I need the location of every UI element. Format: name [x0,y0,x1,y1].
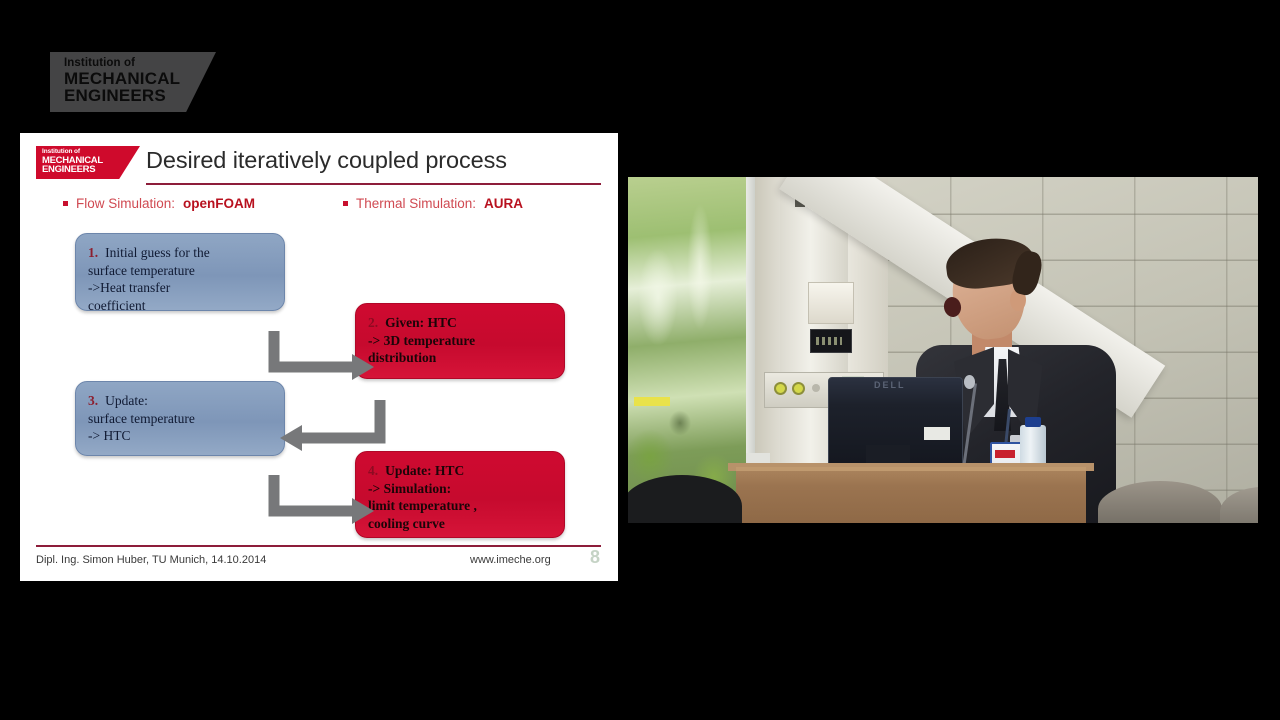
flow-box-4-line4: cooling curve [368,515,552,533]
watermark-logo-line1: Institution of [64,58,180,70]
slide-title-rule [146,183,601,185]
flow-box-1-line3: ->Heat transfer [88,279,272,297]
bullet-thermal-value: AURA [484,196,523,211]
slide-page-number: 8 [590,547,600,568]
flow-box-1-line4: coefficient [88,297,272,315]
watermark-logo-line3: ENGINEERS [64,87,180,104]
slide-logo-text: Institution of MECHANICAL ENGINEERS [42,149,103,175]
flow-box-3-number: 3. [88,392,98,410]
bullet-flow-simulation: Flow Simulation: openFOAM [63,196,255,211]
video-bottom-letterbox [628,523,1258,537]
slide-panel[interactable]: Institution of MECHANICAL ENGINEERS Desi… [20,133,618,581]
monitor-brand-label: DELL [874,380,906,390]
wall-mounted-box [808,282,854,324]
arrow-box1-to-box2 [268,329,378,387]
presentation-video-page: Institution of MECHANICAL ENGINEERS Inst… [0,0,1280,720]
flow-box-3[interactable]: 3. Update: surface temperature -> HTC [75,381,285,456]
flow-box-3-line2: surface temperature [88,410,272,428]
equipment-button-icon [812,384,820,392]
flow-box-2-line1: Given: HTC [385,314,457,332]
slide-imeche-logo: Institution of MECHANICAL ENGINEERS [36,146,140,179]
slide-footer-website: www.imeche.org [470,554,551,566]
flow-box-4-line1: Update: HTC [385,462,464,480]
slide-title: Desired iteratively coupled process [146,147,507,174]
yellow-marker-strip [634,397,670,406]
flow-box-1[interactable]: 1. Initial guess for the surface tempera… [75,233,285,311]
flow-box-2-line2: -> 3D temperature [368,332,552,350]
equipment-knob-icon [774,382,787,395]
microphone-icon [964,375,975,389]
bullet-square-icon [343,201,348,206]
slide-bullet-list: Flow Simulation: openFOAM Thermal Simula… [40,196,600,216]
arrow-box2-to-box3 [278,398,388,456]
window-with-greenery [628,177,748,507]
flow-box-3-line1: Update: [105,392,148,410]
slide-footer-rule [36,545,601,547]
flow-box-2[interactable]: 2. Given: HTC -> 3D temperature distribu… [355,303,565,379]
bullet-square-icon [63,201,68,206]
bullet-flow-label: Flow Simulation: [76,196,175,211]
flow-box-1-line1: Initial guess for the [105,244,210,262]
flow-box-4[interactable]: 4. Update: HTC -> Simulation: limit temp… [355,451,565,538]
flow-box-2-line3: distribution [368,349,552,367]
equipment-knob-icon [792,382,805,395]
slide-logo-line3: ENGINEERS [42,165,103,175]
flow-box-3-line3: -> HTC [88,427,272,445]
speaker-video-panel[interactable]: DELL [628,177,1258,537]
bullet-thermal-label: Thermal Simulation: [356,196,476,211]
monitor-side-sticker [746,453,770,463]
watermark-logo-text: Institution of MECHANICAL ENGINEERS [64,58,180,104]
bullet-thermal-simulation: Thermal Simulation: AURA [343,196,523,211]
flow-box-4-line2: -> Simulation: [368,480,552,498]
water-bottle-cap [1025,417,1041,427]
arrow-box3-to-box4 [268,473,378,531]
bullet-flow-value: openFOAM [183,196,255,211]
slide-footer-author: Dipl. Ing. Simon Huber, TU Munich, 14.10… [36,554,266,566]
flow-box-1-number: 1. [88,244,98,262]
monitor-asset-sticker [924,427,950,440]
wall-control-panel [810,329,852,353]
flow-box-1-line2: surface temperature [88,262,272,280]
flow-box-4-line3: limit temperature , [368,497,552,515]
watermark-logo-line2: MECHANICAL [64,70,180,87]
imeche-watermark-logo: Institution of MECHANICAL ENGINEERS [50,52,216,112]
